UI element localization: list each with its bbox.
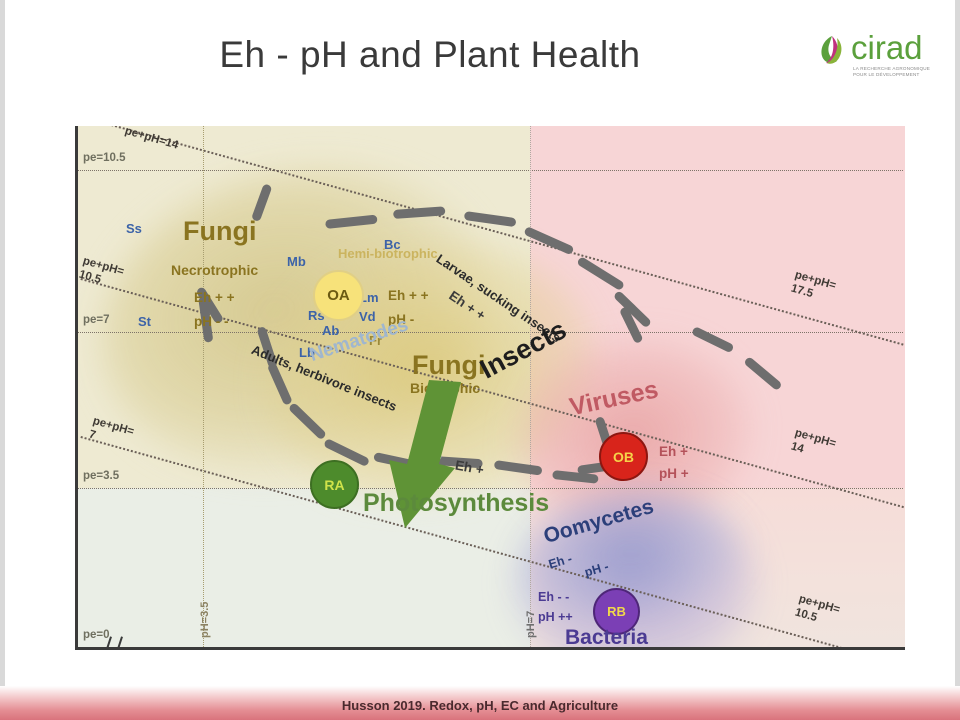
abbr-bc: Bc: [384, 237, 401, 252]
gridline-ph-7: [530, 126, 531, 647]
fungi-hemi-eh: Eh + +: [388, 288, 429, 303]
region-label-fungi-necrotrophic: Fungi: [183, 216, 256, 247]
marker-ra-label: RA: [324, 477, 344, 493]
bacteria-ph: pH ++: [538, 610, 573, 624]
pe-label-7: pe=7: [83, 314, 110, 326]
ph-label-7: pH=7: [525, 611, 537, 638]
viruses-ph: pH +: [659, 466, 689, 481]
marker-ob-label: OB: [613, 449, 634, 465]
region-sub-necrotrophic: Necrotrophic: [171, 262, 258, 278]
ph-label-3-5: pH=3.5: [199, 602, 211, 638]
pe-label-3-5: pe=3.5: [83, 470, 119, 482]
marker-oa: OA: [313, 270, 364, 321]
marker-oa-label: OA: [327, 287, 350, 304]
abbr-st: St: [138, 314, 151, 329]
footer-text: Husson 2019. Redox, pH, EC and Agricultu…: [0, 698, 960, 713]
slide-right-border: [955, 0, 960, 690]
region-label-fungi-biotrophic: Fungi: [412, 350, 485, 381]
eh-ph-chart: Eh(mV) 600 500 400 300 200 100 0 pH 3 4 …: [75, 126, 905, 650]
gridline-ph-3-5: [203, 126, 204, 647]
marker-ra: RA: [310, 460, 359, 509]
cirad-logo-text: cirad: [851, 29, 923, 67]
fungi-necro-eh: Eh + +: [194, 290, 235, 305]
slide: Eh - pH and Plant Health cirad LA RECHER…: [0, 0, 960, 720]
slide-left-border: [0, 0, 5, 720]
gridline-pe-7: [75, 332, 903, 333]
annotation-photosynthesis: Photosynthesis: [363, 489, 549, 518]
abbr-ss: Ss: [126, 221, 142, 236]
x-axis-line: [75, 647, 905, 650]
viruses-eh: Eh +: [659, 444, 688, 459]
marker-rb-label: RB: [607, 604, 626, 619]
abbr-vd: Vd: [359, 309, 376, 324]
abbr-mb: Mb: [287, 254, 306, 269]
cirad-logo-icon: [818, 34, 848, 66]
pe-label-0: pe=0: [83, 629, 110, 641]
fungi-necro-ph: pH - -: [194, 314, 229, 329]
diag-value: 14: [790, 440, 806, 455]
region-label-bacteria: Bacteria: [565, 626, 648, 650]
cirad-logo: cirad LA RECHERCHE AGRONOMIQUE POUR LE D…: [818, 30, 948, 86]
page-title: Eh - pH and Plant Health: [0, 34, 860, 76]
marker-ob: OB: [599, 432, 648, 481]
y-axis-line: [75, 126, 78, 650]
pe-label-10-5: pe=10.5: [83, 152, 126, 164]
bacteria-eh: Eh - -: [538, 590, 569, 604]
cirad-logo-tagline: LA RECHERCHE AGRONOMIQUE POUR LE DÉVELOP…: [853, 66, 930, 78]
gridline-pe-10-5: [75, 170, 903, 171]
